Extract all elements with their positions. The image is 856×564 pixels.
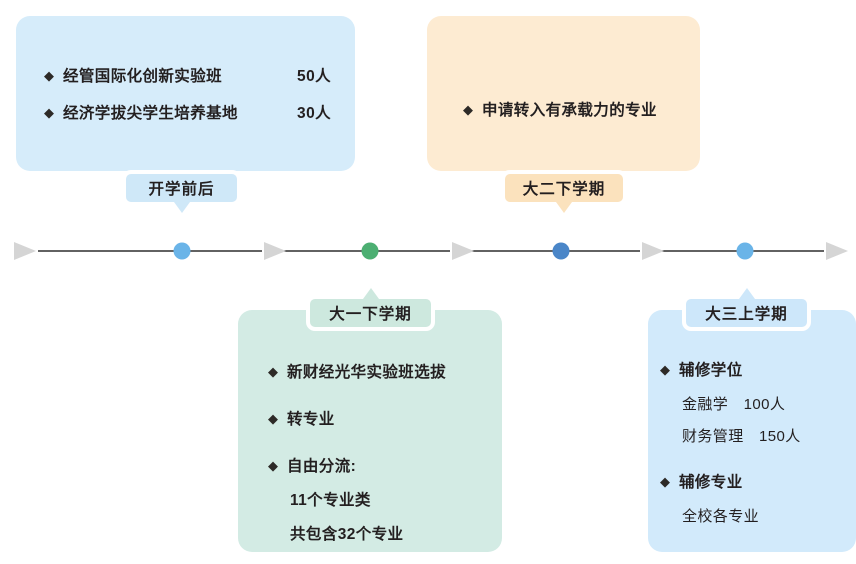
timeline-dot-1[interactable] xyxy=(174,243,191,260)
timeline-dot-4[interactable] xyxy=(737,243,754,260)
timeline-arrow-icon xyxy=(14,242,36,260)
timeline-arrow-icon xyxy=(452,242,474,260)
timeline-arrow-icon xyxy=(264,242,286,260)
timeline-dot-2[interactable] xyxy=(362,243,379,260)
timeline-arrow-icon xyxy=(642,242,664,260)
timeline-dot-3[interactable] xyxy=(553,243,570,260)
timeline-axis xyxy=(0,0,856,564)
timeline-arrow-icon xyxy=(826,242,848,260)
infographic-canvas: ◆ 经管国际化创新实验班 50人 ◆ 经济学拔尖学生培养基地 30人 ◆ 申请转… xyxy=(0,0,856,564)
